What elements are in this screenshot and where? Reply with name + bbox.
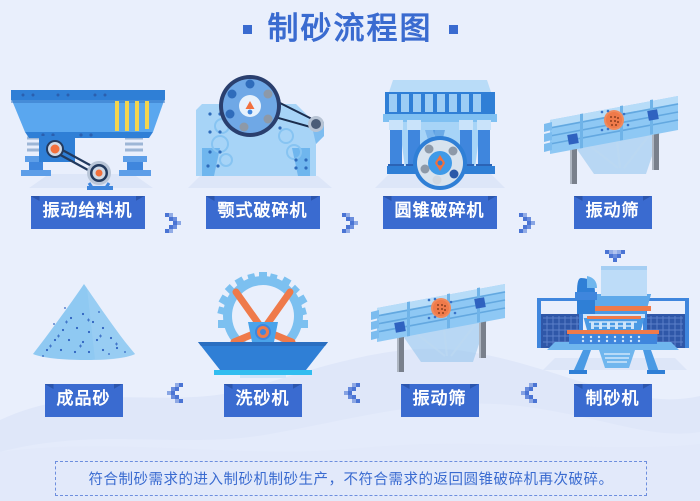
vibrating-feeder-icon [0,70,175,190]
chevron-down-icon [602,248,628,270]
chevron-left-icon-2 [340,378,362,404]
vibrating-screen-icon [352,258,527,378]
flow-step-label[interactable]: 洗砂机 [224,384,302,417]
flow-step-finished-sand[interactable]: 成品砂 [0,258,171,428]
flow-step-label[interactable]: 振动给料机 [31,196,145,229]
flow-step-vibrating-feeder[interactable]: 振动给料机 [0,70,175,240]
footer-note: 符合制砂需求的进入制砂机制砂生产，不符合需求的返回圆锥破碎机再次破碎。 [55,461,647,496]
chevron-left-icon-1 [163,378,185,404]
flow-step-sand-making-machine[interactable]: 制砂机 [525,258,700,428]
flow-row-1: 振动给料机 [0,70,700,240]
chevron-left-icon-3 [517,378,539,404]
title-bullet-left-icon [243,25,252,34]
chevron-right-icon-3 [517,208,539,234]
sand-making-machine-icon [525,258,700,378]
chevron-right-icon-1 [163,208,185,234]
page-title: 制砂流程图 [0,14,700,45]
flow-step-label[interactable]: 颚式破碎机 [206,196,320,229]
jaw-crusher-icon [175,70,350,190]
page-title-text: 制砂流程图 [268,14,433,45]
flow-step-label[interactable]: 成品砂 [45,384,123,417]
cone-crusher-icon [352,70,527,190]
sand-washer-icon [175,258,350,378]
flowchart-canvas: 制砂流程图 [0,0,700,501]
flow-step-label[interactable]: 制砂机 [574,384,652,417]
title-bullet-right-icon [449,25,458,34]
flow-step-vibrating-screen-1[interactable]: 振动筛 [525,70,700,240]
flow-step-sand-washer[interactable]: 洗砂机 [175,258,350,428]
chevron-right-icon-2 [340,208,362,234]
sand-pile-icon [0,258,171,378]
flow-step-jaw-crusher[interactable]: 颚式破碎机 [175,70,350,240]
flow-step-label[interactable]: 圆锥破碎机 [383,196,497,229]
flow-step-label[interactable]: 振动筛 [574,196,652,229]
flow-step-vibrating-screen-2[interactable]: 振动筛 [352,258,527,428]
flow-row-2: 成品砂 [0,258,700,428]
flow-step-cone-crusher[interactable]: 圆锥破碎机 [352,70,527,240]
flow-step-label[interactable]: 振动筛 [401,384,479,417]
footer-note-text: 符合制砂需求的进入制砂机制砂生产，不符合需求的返回圆锥破碎机再次破碎。 [89,468,614,489]
vibrating-screen-icon [525,70,700,190]
